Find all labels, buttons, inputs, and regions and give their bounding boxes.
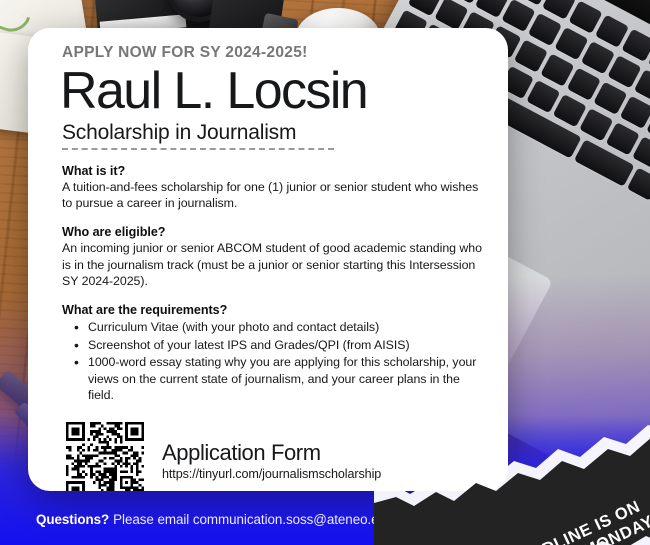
section-what-is-it: What is it? A tuition-and-fees scholarsh… xyxy=(62,164,484,212)
section-body: An incoming junior or senior ABCOM stude… xyxy=(62,240,484,289)
section-heading: Who are eligible? xyxy=(62,225,484,239)
section-heading: What is it? xyxy=(62,164,484,178)
page-subtitle: Scholarship in Journalism xyxy=(62,121,296,145)
list-item: Curriculum Vitae (with your photo and co… xyxy=(66,319,484,336)
application-row: Application Form https://tinyurl.com/jou… xyxy=(66,422,484,491)
title-underline-divider xyxy=(62,148,334,150)
application-form-title: Application Form xyxy=(162,441,381,465)
section-requirements: What are the requirements? Curriculum Vi… xyxy=(62,303,484,404)
footer-label: Questions? xyxy=(36,512,109,527)
list-item: 1000-word essay stating why you are appl… xyxy=(66,354,484,404)
section-who-are-eligible: Who are eligible? An incoming junior or … xyxy=(62,225,484,289)
requirements-list: Curriculum Vitae (with your photo and co… xyxy=(66,319,484,404)
qr-code-icon[interactable] xyxy=(66,422,144,491)
application-form-block: Application Form https://tinyurl.com/jou… xyxy=(162,441,381,480)
poster-card: APPLY NOW FOR SY 2024-2025! Raul L. Locs… xyxy=(28,28,508,491)
kicker-text: APPLY NOW FOR SY 2024-2025! xyxy=(62,44,484,62)
section-body: A tuition-and-fees scholarship for one (… xyxy=(62,179,484,212)
page-title: Raul L. Locsin xyxy=(60,64,484,119)
footer-text: Please email communication.soss@ateneo.e… xyxy=(113,512,393,527)
section-heading: What are the requirements? xyxy=(62,303,484,317)
footer-contact-line: Questions? Please email communication.so… xyxy=(0,493,650,545)
application-form-url[interactable]: https://tinyurl.com/journalismscholarshi… xyxy=(162,467,381,481)
list-item: Screenshot of your latest IPS and Grades… xyxy=(66,337,484,354)
